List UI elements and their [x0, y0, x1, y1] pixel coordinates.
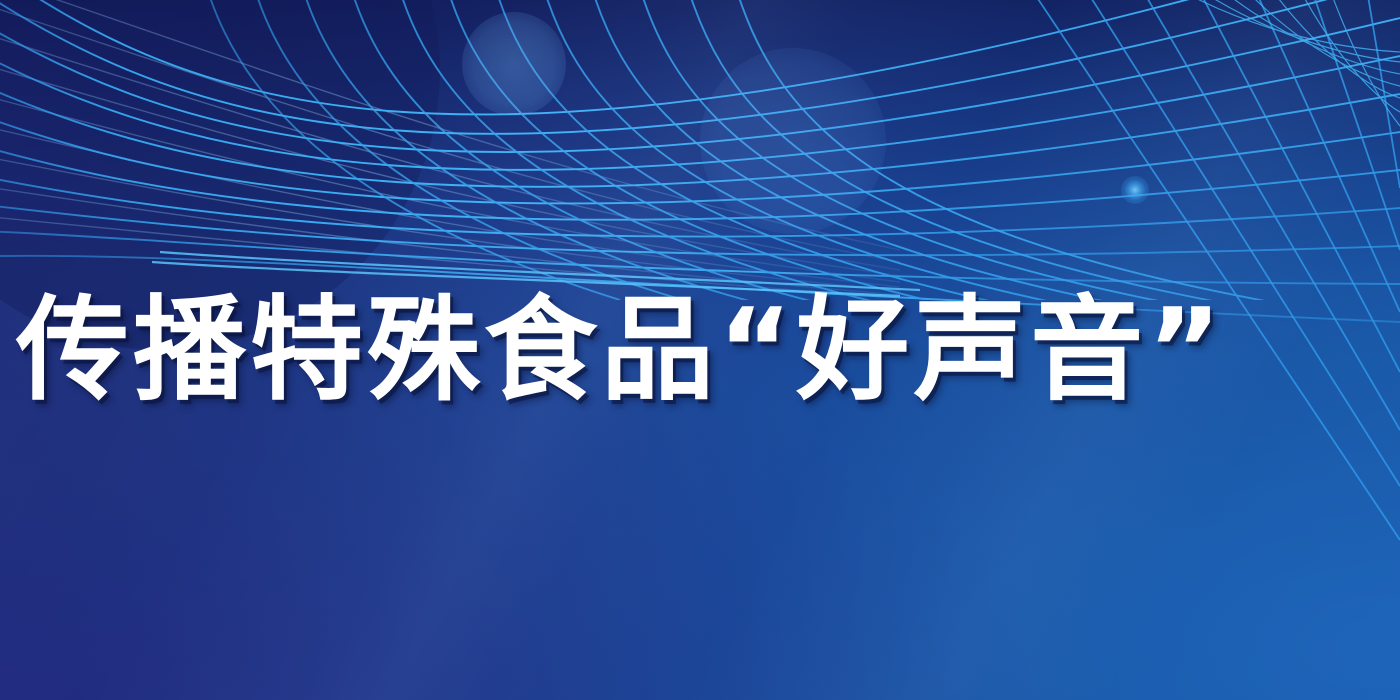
page-title: 传播特殊食品“好声音” [16, 291, 1226, 411]
banner-poster: 传播特殊食品“好声音” [0, 0, 1400, 700]
title-block: 传播特殊食品“好声音” [0, 276, 1400, 426]
